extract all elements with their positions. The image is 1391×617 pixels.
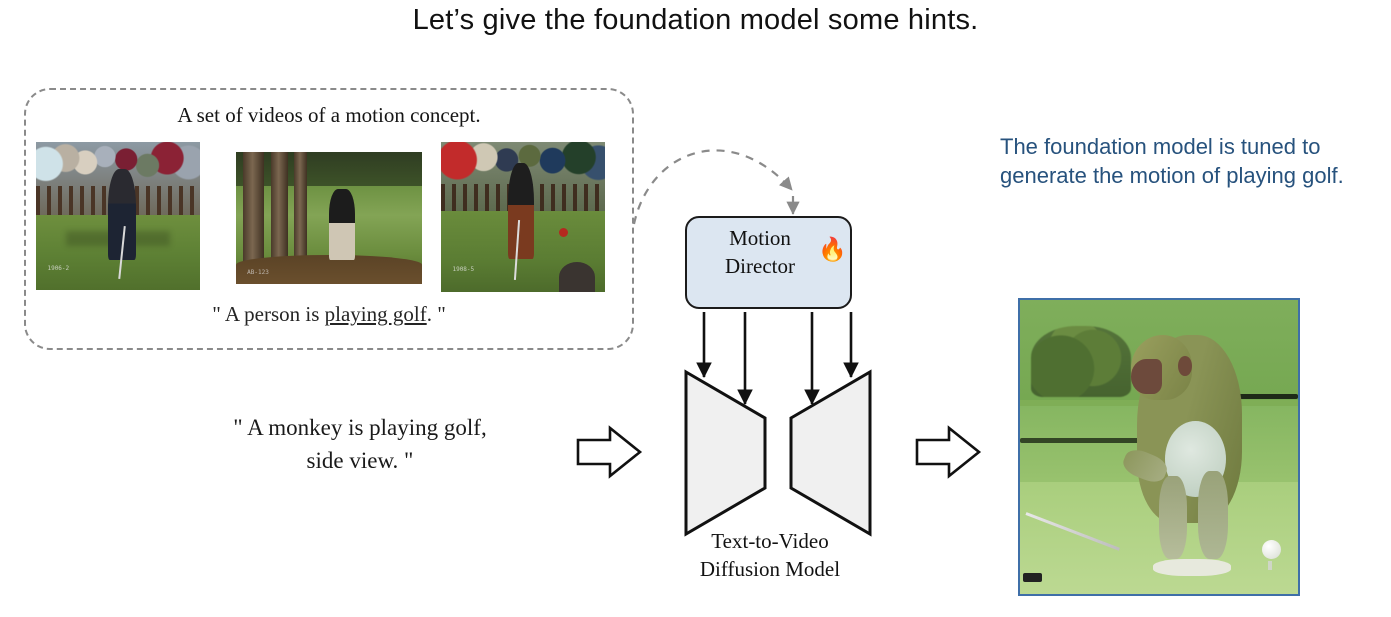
monkey-leg-right: [1198, 471, 1229, 559]
dog-silhouette: [559, 262, 595, 292]
unet-encoder-trapezoid: [686, 372, 765, 534]
motion-director-label: Motion Director: [685, 225, 835, 281]
fire-icon: 🔥: [818, 238, 847, 261]
block-arrow-right-1: [578, 428, 640, 476]
video-watermark: AB-123: [247, 269, 269, 276]
video-watermark: 1908-5: [452, 266, 474, 273]
generated-monkey-golf-video[interactable]: [1018, 298, 1300, 596]
prompt-underlined-phrase: playing golf: [325, 302, 427, 326]
bush-graphic: [1031, 326, 1131, 397]
golf-tee: [1268, 561, 1272, 570]
foundation-model-annotation: The foundation model is tuned to generat…: [1000, 132, 1370, 191]
dashed-curved-arrow: [634, 150, 792, 224]
snowflake-icon: ❄️: [823, 395, 850, 417]
tree-trunk: [294, 152, 307, 258]
monkey-feet: [1153, 559, 1231, 577]
tree-trunk: [271, 152, 288, 260]
reference-video-thumbnail-3[interactable]: 1908-5: [441, 142, 605, 292]
diffusion-model-line-2: Diffusion Model: [660, 555, 880, 583]
golf-ball: [1262, 540, 1281, 559]
reference-video-thumbnail-1[interactable]: 1906-2: [36, 142, 200, 290]
prompt-prefix: " A person is: [212, 302, 324, 326]
golfer-figure: [329, 189, 355, 260]
golf-club-head: [1023, 573, 1042, 582]
monkey-leg-left: [1159, 476, 1187, 558]
tree-trunk: [243, 152, 263, 266]
diffusion-model-label: Text-to-Video Diffusion Model: [660, 527, 880, 584]
monkey-face: [1131, 359, 1162, 394]
input-prompt-line-2: side view. ": [150, 445, 570, 478]
input-prompt-text: " A monkey is playing golf, side view. ": [150, 412, 570, 477]
red-marker: [559, 228, 568, 237]
treeline-background: [236, 152, 422, 186]
video-watermark: 1906-2: [47, 265, 69, 272]
motion-director-line-1: Motion: [685, 225, 835, 253]
reference-video-thumbnail-2[interactable]: AB-123: [236, 152, 422, 284]
input-prompt-line-1: " A monkey is playing golf,: [150, 412, 570, 445]
block-arrow-right-2: [917, 428, 979, 476]
reference-set-prompt: " A person is playing golf. ": [24, 302, 634, 327]
golfer-figure: [508, 163, 534, 259]
page-title: Let’s give the foundation model some hin…: [0, 4, 1391, 37]
motion-director-line-2: Director: [685, 253, 835, 281]
prompt-suffix: . ": [427, 302, 446, 326]
reference-set-caption: A set of videos of a motion concept.: [24, 103, 634, 128]
diffusion-model-line-1: Text-to-Video: [660, 527, 880, 555]
